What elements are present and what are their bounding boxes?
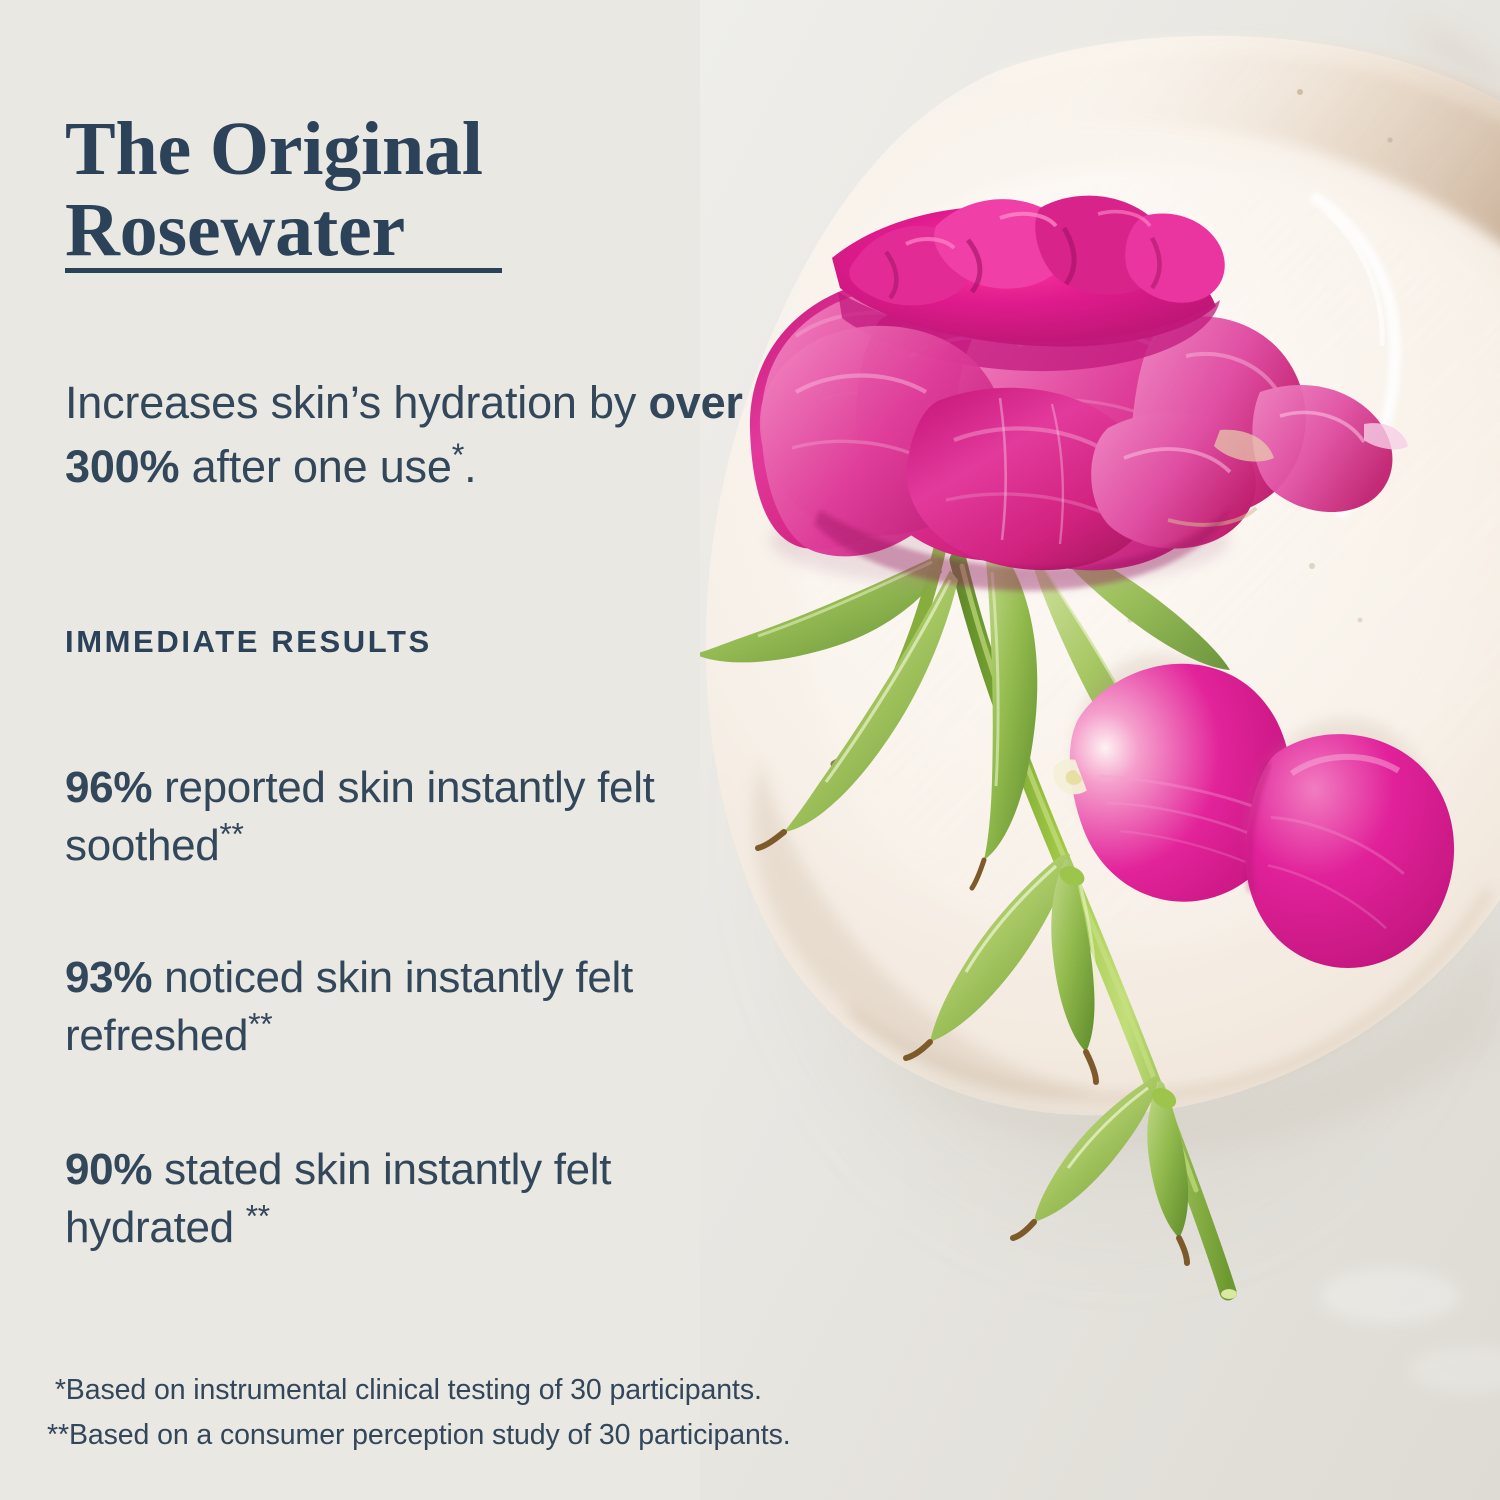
footnotes: *Based on instrumental clinical testing … bbox=[47, 1368, 1047, 1458]
result-stat-2: 90% stated skin instantly felt hydrated … bbox=[65, 1141, 765, 1257]
title-line-1: The Original bbox=[65, 107, 483, 191]
result-text-0: reported skin instantly felt soothed bbox=[65, 763, 655, 870]
product-hero-photo bbox=[700, 0, 1500, 1500]
result-footnote-marker-1: ** bbox=[248, 1005, 272, 1041]
section-label-immediate-results: IMMEDIATE RESULTS bbox=[65, 624, 432, 660]
result-percent-2: 90% bbox=[65, 1145, 152, 1194]
page-title: The Original Rosewater bbox=[65, 109, 685, 272]
claim-part-1: Increases skin’s hydration by bbox=[65, 377, 648, 428]
result-stat-0: 96% reported skin instantly felt soothed… bbox=[65, 759, 765, 875]
claim-footnote-marker: * bbox=[452, 437, 464, 473]
result-stat-1: 93% noticed skin instantly felt refreshe… bbox=[65, 949, 765, 1065]
footnote-line-1: *Based on instrumental clinical testing … bbox=[47, 1368, 1047, 1413]
hydration-claim: Increases skin’s hydration by over 300% … bbox=[65, 371, 765, 499]
result-percent-1: 93% bbox=[65, 953, 152, 1002]
title-divider bbox=[65, 268, 502, 273]
ad-canvas: The Original Rosewater Increases skin’s … bbox=[0, 0, 1500, 1500]
title-line-2: Rosewater bbox=[65, 188, 405, 272]
copy-column: The Original Rosewater Increases skin’s … bbox=[0, 0, 760, 1500]
result-percent-0: 96% bbox=[65, 763, 152, 812]
footnote-line-2: **Based on a consumer perception study o… bbox=[47, 1413, 1047, 1458]
result-footnote-marker-0: ** bbox=[219, 815, 243, 851]
result-footnote-marker-2: ** bbox=[246, 1197, 270, 1233]
claim-trailing: . bbox=[464, 441, 476, 492]
claim-part-2: after one use bbox=[179, 441, 451, 492]
